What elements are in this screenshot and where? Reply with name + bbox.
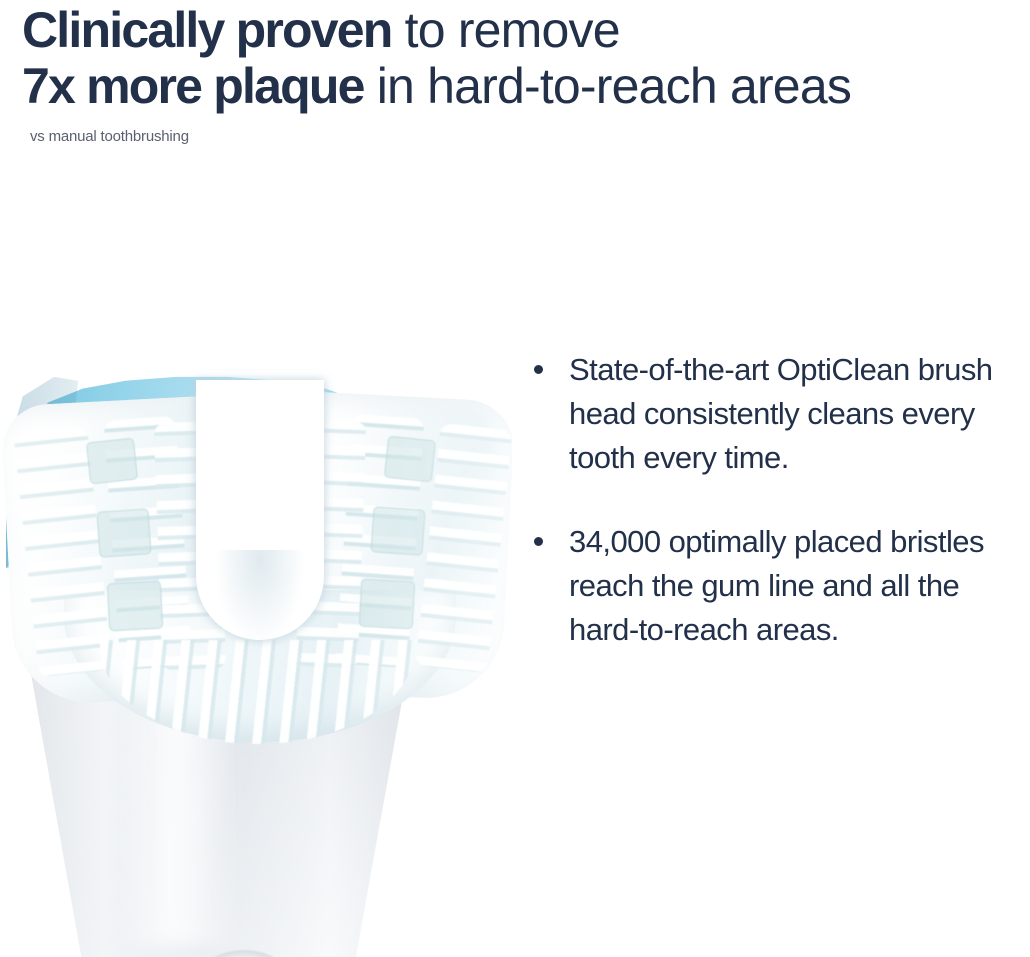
headline-disclaimer: vs manual toothbrushing: [30, 128, 189, 146]
bullet-dot-icon: [534, 365, 543, 374]
mouthpiece-u-opening-shadow: [214, 550, 306, 646]
headline-line-2-strong: 7x more plaque: [22, 58, 364, 114]
feature-list: State-of-the-art OptiClean brush head co…: [534, 348, 1020, 692]
headline-line-1-strong: Clinically proven: [22, 2, 392, 58]
headline-line-1-light: to remove: [392, 2, 620, 58]
list-item: State-of-the-art OptiClean brush head co…: [534, 348, 1020, 480]
headline-line-2: 7x more plaque in hard-to-reach areas: [22, 58, 1030, 114]
product-image: [0, 195, 512, 957]
brush-head-mouthpiece: [8, 400, 508, 730]
headline-line-1: Clinically proven to remove: [22, 2, 1030, 58]
feature-text: State-of-the-art OptiClean brush head co…: [569, 348, 1020, 480]
list-item: 34,000 optimally placed bristles reach t…: [534, 520, 1020, 652]
headline-line-2-light: in hard-to-reach areas: [364, 58, 851, 114]
page-title: Clinically proven to remove 7x more plaq…: [22, 2, 1030, 114]
bullet-dot-icon: [534, 537, 543, 546]
product-feature-panel: Clinically proven to remove 7x more plaq…: [0, 0, 1030, 957]
feature-text: 34,000 optimally placed bristles reach t…: [569, 520, 1020, 652]
